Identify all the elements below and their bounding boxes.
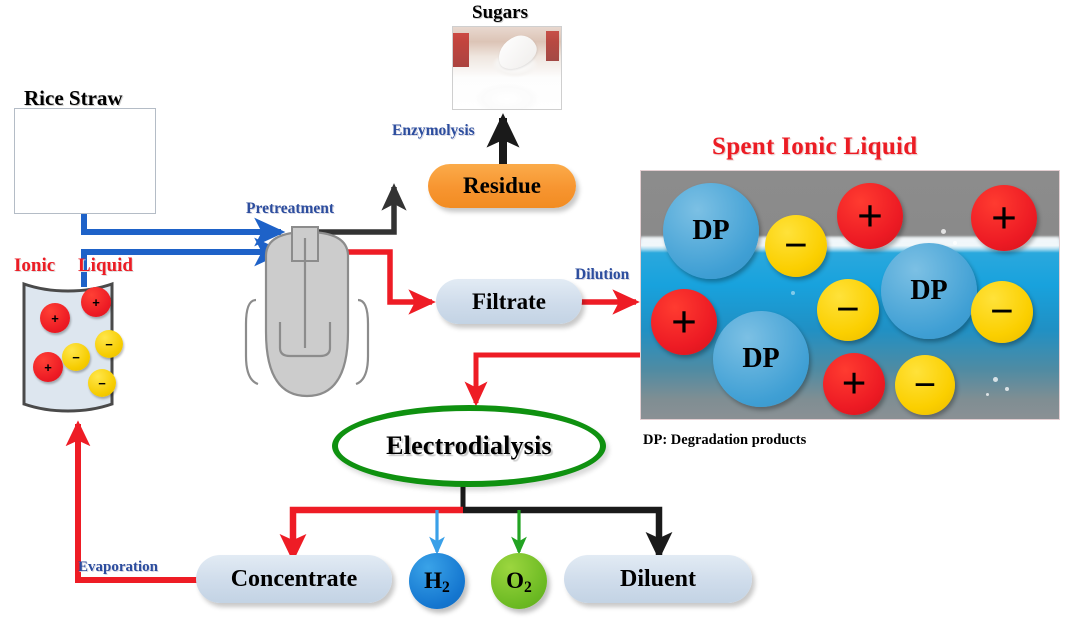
sugars-image	[452, 26, 562, 110]
arrow-spent-to-electrodialysis	[476, 355, 640, 403]
bubble	[941, 229, 946, 234]
annotation-evaporation: Evaporation	[78, 559, 158, 576]
dp-particle: DP	[881, 243, 977, 339]
spent-ionic-liquid-title: Spent Ionic Liquid	[712, 133, 918, 161]
node-residue[interactable]: Residue	[428, 164, 576, 208]
rice-straw-title: Rice Straw	[24, 86, 123, 111]
plus-sign: +	[44, 360, 52, 375]
sugars-image-detail	[453, 33, 469, 67]
minus-sign: −	[72, 350, 80, 365]
rice-straw-image	[14, 108, 156, 214]
minus-sign: −	[105, 337, 113, 352]
spoon-shape	[493, 31, 541, 74]
sugars-image-detail	[546, 31, 559, 61]
dp-particle: DP	[713, 311, 809, 407]
anion-particle: −	[817, 279, 879, 341]
electrodialysis-label: Electrodialysis	[386, 431, 552, 461]
diluent-label: Diluent	[620, 566, 696, 593]
anion-particle: −	[765, 215, 827, 277]
node-oxygen[interactable]: O2	[491, 553, 547, 609]
bubble	[993, 377, 998, 382]
cation-particle: +	[651, 289, 717, 355]
residue-label: Residue	[463, 173, 541, 199]
cation-particle: +	[837, 183, 903, 249]
process-flow-diagram: DP DP DP + + + + − − − −	[0, 0, 1080, 625]
annotation-dilution: Dilution	[575, 266, 629, 284]
annotation-enzymolysis: Enzymolysis	[392, 122, 475, 140]
manifold-to-concentrate	[293, 510, 463, 558]
bubble	[953, 241, 957, 245]
concentrate-label: Concentrate	[231, 566, 358, 593]
beaker-cation: +	[33, 352, 63, 382]
node-hydrogen[interactable]: H2	[409, 553, 465, 609]
cation-particle: +	[823, 353, 885, 415]
annotation-pretreatment: Pretreatment	[246, 200, 334, 218]
beaker-anion: −	[62, 343, 90, 371]
minus-sign: −	[98, 376, 106, 391]
dp-label: DP	[742, 343, 779, 375]
reactor-vessel	[246, 227, 368, 396]
dp-legend-caption: DP: Degradation products	[643, 432, 806, 449]
dp-label: DP	[692, 215, 729, 247]
anion-particle: −	[971, 281, 1033, 343]
anion-particle: −	[895, 355, 955, 415]
dp-label: DP	[910, 275, 947, 307]
manifold-to-diluent	[463, 510, 659, 556]
bubble	[1005, 387, 1009, 391]
node-electrodialysis[interactable]: Electrodialysis	[332, 405, 606, 487]
ionic-label: Ionic	[14, 255, 55, 277]
dp-particle: DP	[663, 183, 759, 279]
plus-sign: +	[92, 295, 100, 310]
spent-ionic-liquid-panel: DP DP DP + + + + − − − −	[640, 170, 1060, 420]
beaker-cation: +	[40, 303, 70, 333]
oxygen-label: O2	[506, 568, 532, 594]
liquid-label: Liquid	[78, 255, 133, 277]
beaker-anion: −	[88, 369, 116, 397]
plus-sign: +	[51, 311, 59, 326]
bubble	[986, 393, 989, 396]
node-concentrate[interactable]: Concentrate	[196, 555, 392, 603]
sugars-title: Sugars	[472, 2, 528, 24]
bubble	[791, 291, 795, 295]
beaker-anion: −	[95, 330, 123, 358]
arrow-reactor-to-filtrate	[318, 252, 432, 302]
arrow-concentrate-to-ionicliquid	[78, 424, 205, 580]
cation-particle: +	[971, 185, 1037, 251]
node-filtrate[interactable]: Filtrate	[436, 279, 582, 324]
beaker-cation: +	[81, 287, 111, 317]
node-diluent[interactable]: Diluent	[564, 555, 752, 603]
hydrogen-label: H2	[424, 568, 450, 594]
filtrate-label: Filtrate	[472, 289, 546, 315]
